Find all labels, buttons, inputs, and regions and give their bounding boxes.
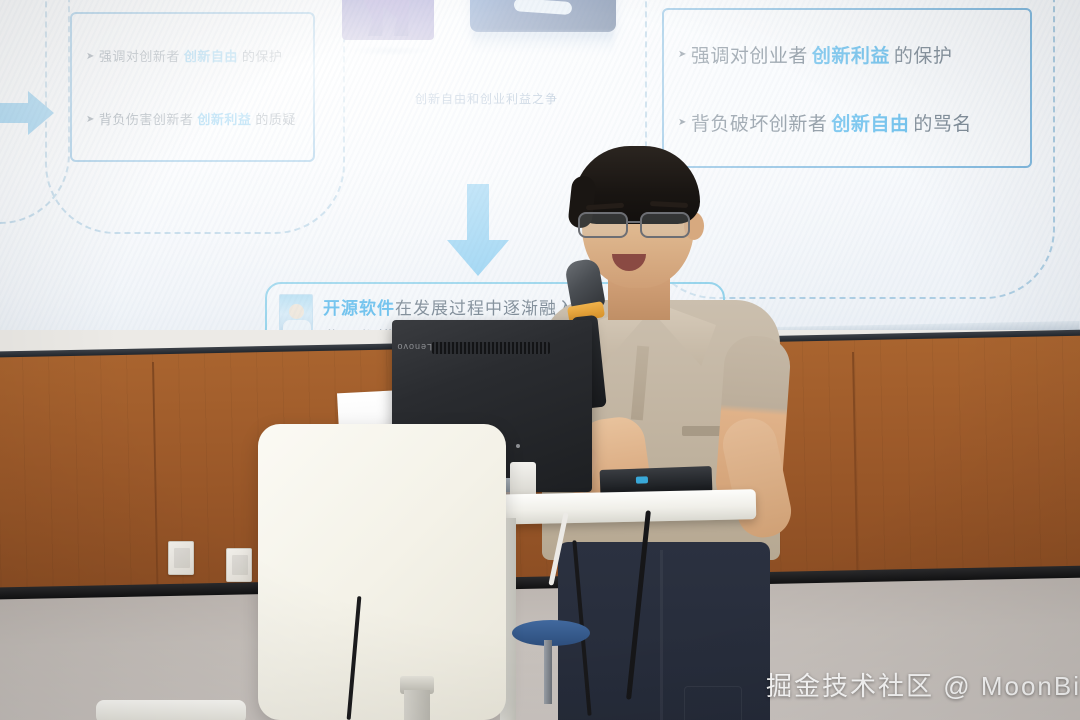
- bullet-left-2-pre: 背负伤害创新者: [99, 109, 194, 128]
- slide-box-right: ➤ 强调对创业者 创新利益 的保护 ➤ 背负破坏创新者 创新自由 的骂名: [662, 8, 1032, 168]
- presenter-shirt-logo: [682, 426, 724, 436]
- slide-box-left: ➤ 强调对创新者 创新自由 的保护 ➤ 背负伤害创新者 创新利益 的质疑: [70, 12, 315, 162]
- caret-icon: ➤: [86, 52, 95, 62]
- wall-switch-plate[interactable]: [168, 541, 194, 575]
- white-panel-board: [258, 424, 506, 720]
- bullet-right-2: ➤ 背负破坏创新者 创新自由 的骂名: [678, 109, 1016, 136]
- laptop-indicator: [636, 476, 648, 483]
- glasses-lens-left: [578, 212, 628, 238]
- bullet-left-1-highlight: 创新自由: [184, 46, 238, 65]
- monitor-brand-label: Lenovo: [398, 340, 432, 352]
- glasses-icon: [578, 212, 700, 238]
- switch-button[interactable]: [232, 555, 248, 575]
- trouser-seam: [660, 550, 663, 720]
- bullet-left-2-post: 的质疑: [255, 109, 296, 128]
- bullet-right-1-pre: 强调对创业者: [691, 41, 808, 68]
- switch-button[interactable]: [174, 548, 190, 568]
- slide-center-caption: 创新自由和创业利益之争: [415, 90, 558, 107]
- hand-photo-reflection: [472, 32, 614, 54]
- bottom-text-highlight: 开源软件: [323, 299, 395, 318]
- bullet-right-2-highlight: 创新自由: [831, 109, 909, 136]
- presentation-photo: ➤ 强调对创新者 创新自由 的保护 ➤ 背负伤害创新者 创新利益 的质疑 ➤ 强…: [0, 0, 1080, 720]
- blue-stool-leg: [544, 640, 552, 704]
- bullet-left-1-pre: 强调对创新者: [99, 46, 180, 65]
- figure-shadow: [346, 46, 432, 56]
- caret-icon: ➤: [678, 118, 687, 128]
- bullet-left-1-post: 的保护: [242, 46, 283, 65]
- bullet-right-2-post: 的骂名: [913, 109, 972, 136]
- trouser-pocket: [684, 686, 742, 720]
- caret-icon: ➤: [86, 115, 95, 125]
- arrow-down-icon: [445, 184, 511, 276]
- monitor-vent: [432, 342, 550, 354]
- bullet-right-1-highlight: 创新利益: [812, 41, 890, 68]
- desk-surface: [488, 489, 757, 525]
- bullet-right-1-post: 的保护: [894, 41, 953, 68]
- arrow-right-icon: [0, 89, 54, 137]
- wall-switch-plate[interactable]: [226, 548, 252, 582]
- bullet-left-2: ➤ 背负伤害创新者 创新利益 的质疑: [86, 109, 299, 128]
- glasses-bridge: [628, 221, 642, 223]
- avatar-head: [289, 304, 304, 319]
- finger: [514, 0, 573, 15]
- bullet-right-2-pre: 背负破坏创新者: [691, 109, 828, 136]
- bullet-right-1: ➤ 强调对创业者 创新利益 的保护: [678, 41, 1016, 68]
- glasses-lens-right: [640, 212, 690, 238]
- foreground-white-object: [96, 700, 246, 720]
- bullet-left-2-highlight: 创新利益: [197, 109, 251, 128]
- figure-legs: [360, 0, 416, 36]
- bullet-left-1: ➤ 强调对创新者 创新自由 的保护: [86, 46, 299, 65]
- caret-icon: ➤: [678, 50, 687, 60]
- slide-photo-hand: [470, 0, 616, 32]
- slide-photo-standing-figure: [342, 0, 434, 40]
- panel-stem: [404, 690, 430, 720]
- monitor-screw: [516, 444, 520, 448]
